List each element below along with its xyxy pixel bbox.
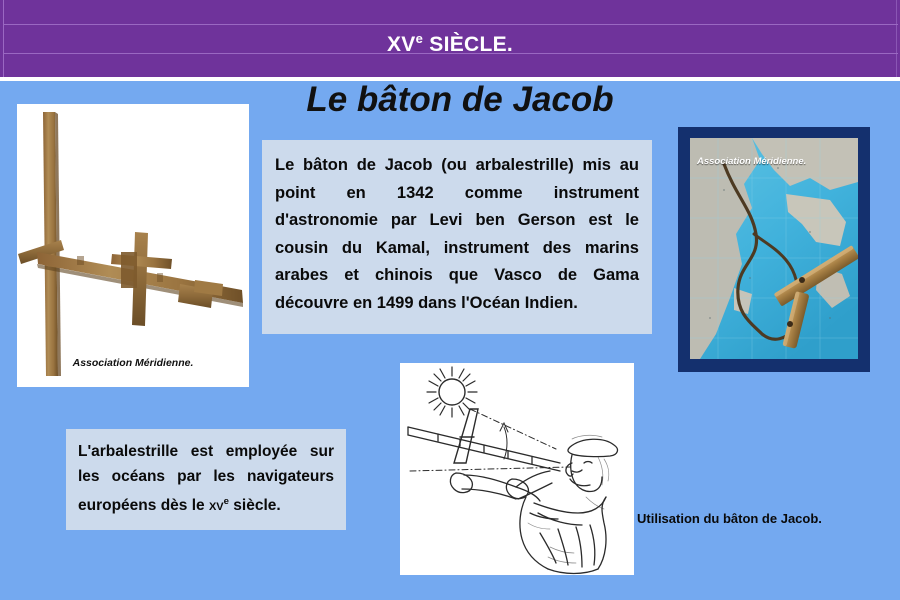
kamal-map-illustration (690, 138, 858, 359)
image-kamal-photo: Association Méridienne. (690, 138, 858, 359)
engraving-illustration (400, 363, 634, 575)
header-banner: XVe SIÈCLE. (0, 0, 900, 77)
secondary-description-textbox: L'arbalestrille est employée sur les océ… (66, 429, 346, 530)
image-engraving-photo (400, 363, 634, 575)
secondary-text-after: siècle. (229, 497, 281, 514)
crossstaff-illustration (17, 104, 249, 387)
main-description-textbox: Le bâton de Jacob (ou arbalestrille) mis… (262, 140, 652, 334)
century-ordinal-suffix: e (416, 31, 424, 46)
kamal-caption: Association Méridienne. (697, 156, 806, 167)
century-smallcaps: xv (209, 497, 224, 514)
image-crossstaff-photo: Association Méridienne. (17, 104, 249, 387)
secondary-text-before: L'arbalestrille est employée sur les océ… (78, 443, 334, 514)
image-kamal-frame: Association Méridienne. (678, 127, 870, 372)
crossstaff-caption: Association Méridienne. (17, 357, 249, 369)
century-number: XV (387, 33, 416, 56)
engraving-caption: Utilisation du bâton de Jacob. (637, 511, 822, 526)
century-word: SIÈCLE. (423, 33, 513, 56)
page-title-century: XVe SIÈCLE. (0, 24, 900, 53)
